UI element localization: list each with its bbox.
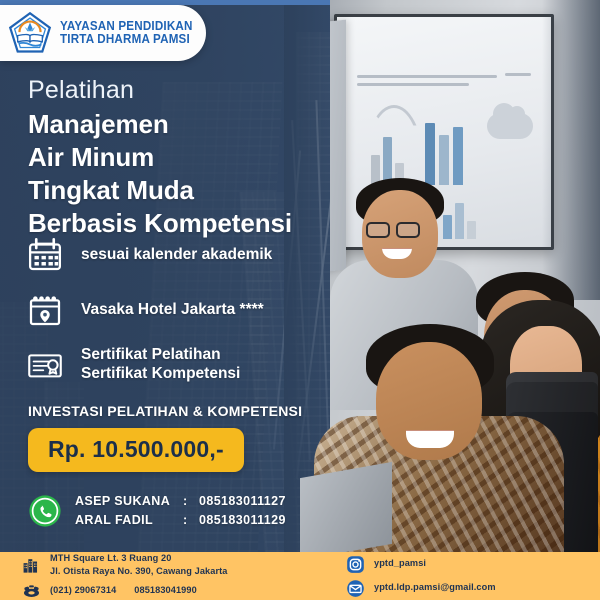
info-row-venue: Vasaka Hotel Jakarta **** xyxy=(24,289,272,331)
footer-instagram-item[interactable]: yptd_pamsi xyxy=(346,555,426,574)
info-row-certificate: Sertifikat Pelatihan Sertifikat Kompeten… xyxy=(24,344,272,386)
headline-line-2: Air Minum xyxy=(28,141,292,174)
phone-mobile: 085183041990 xyxy=(134,584,197,597)
info-text-certificate: Sertifikat Pelatihan Sertifikat Kompeten… xyxy=(81,346,240,384)
phone-landline: (021) 29067314 xyxy=(50,584,116,597)
wall-shadow xyxy=(542,0,600,300)
contact-separator-2: : xyxy=(183,511,199,530)
logo-line-2: TIRTA DHARMA PAMSI xyxy=(60,33,193,47)
logo-line-1: YAYASAN PENDIDIKAN xyxy=(60,20,193,34)
footer-address-text: MTH Square Lt. 3 Ruang 20 Jl. Otista Ray… xyxy=(50,552,228,578)
certificate-line-1: Sertifikat Pelatihan xyxy=(81,346,240,365)
whatsapp-contacts: ASEP SUKANA : 085183011127 ARAL FADIL : … xyxy=(75,492,286,531)
footer-address-item: MTH Square Lt. 3 Ruang 20 Jl. Otista Ray… xyxy=(22,552,228,578)
location-pin-icon xyxy=(24,289,66,331)
footer-phone-item[interactable]: (021) 29067314 085183041990 xyxy=(22,581,197,600)
telephone-icon xyxy=(22,581,41,600)
headline-line-3: Tingkat Muda xyxy=(28,174,292,207)
logo-wordmark: YAYASAN PENDIDIKAN TIRTA DHARMA PAMSI xyxy=(60,20,203,47)
whatsapp-contact-block[interactable]: ASEP SUKANA : 085183011127 ARAL FADIL : … xyxy=(28,492,286,531)
footer-bar: MTH Square Lt. 3 Ruang 20 Jl. Otista Ray… xyxy=(0,552,600,600)
calendar-icon xyxy=(24,234,66,276)
contact-name-2: ARAL FADIL xyxy=(75,511,183,530)
seminar-photo xyxy=(300,0,600,552)
contact-name-1: ASEP SUKANA xyxy=(75,492,183,511)
instagram-handle: yptd_pamsi xyxy=(374,557,426,570)
contact-separator-1: : xyxy=(183,492,199,511)
price-badge: Rp. 10.500.000,- xyxy=(28,428,244,472)
investment-label: INVESTASI PELATIHAN & KOMPETENSI xyxy=(28,403,302,419)
whatsapp-contact-row: ASEP SUKANA : 085183011127 xyxy=(75,492,286,511)
contact-number-1: 085183011127 xyxy=(199,492,286,511)
pentagon-lotus-book-logo-icon xyxy=(8,11,52,55)
headline-pre: Pelatihan xyxy=(28,76,292,106)
logo-badge: YAYASAN PENDIDIKAN TIRTA DHARMA PAMSI xyxy=(0,5,206,61)
headline-line-1: Manajemen xyxy=(28,108,292,141)
email-address: yptd.ldp.pamsi@gmail.com xyxy=(374,581,496,594)
instagram-icon[interactable] xyxy=(346,555,365,574)
certificate-line-2: Sertifikat Kompetensi xyxy=(81,365,240,384)
footer-email-item[interactable]: yptd.ldp.pamsi@gmail.com xyxy=(346,579,496,598)
whatsapp-icon[interactable] xyxy=(28,494,62,528)
laptop xyxy=(300,462,392,552)
email-icon[interactable] xyxy=(346,579,365,598)
contact-number-2: 085183011129 xyxy=(199,511,286,530)
info-text-schedule: sesuai kalender akademik xyxy=(81,246,272,265)
info-list: sesuai kalender akademik Vasaka Hotel Ja… xyxy=(24,234,272,399)
info-row-schedule: sesuai kalender akademik xyxy=(24,234,272,276)
footer-phone-text: (021) 29067314 085183041990 xyxy=(50,584,197,597)
address-line-1: MTH Square Lt. 3 Ruang 20 xyxy=(50,552,228,565)
headline-block: Pelatihan Manajemen Air Minum Tingkat Mu… xyxy=(28,76,292,240)
footer-address-column: MTH Square Lt. 3 Ruang 20 Jl. Otista Ray… xyxy=(22,552,322,600)
certificate-icon xyxy=(24,344,66,386)
footer-social-column: yptd_pamsi yptd.ldp.pamsi@gmail.com xyxy=(346,555,496,598)
building-icon xyxy=(22,556,41,575)
whiteboard-cloud-icon xyxy=(487,113,533,139)
whatsapp-contact-row: ARAL FADIL : 085183011129 xyxy=(75,511,286,530)
info-text-venue: Vasaka Hotel Jakarta **** xyxy=(81,301,264,320)
promo-flyer: YAYASAN PENDIDIKAN TIRTA DHARMA PAMSI Pe… xyxy=(0,0,600,600)
address-line-2: Jl. Otista Raya No. 390, Cawang Jakarta xyxy=(50,565,228,578)
